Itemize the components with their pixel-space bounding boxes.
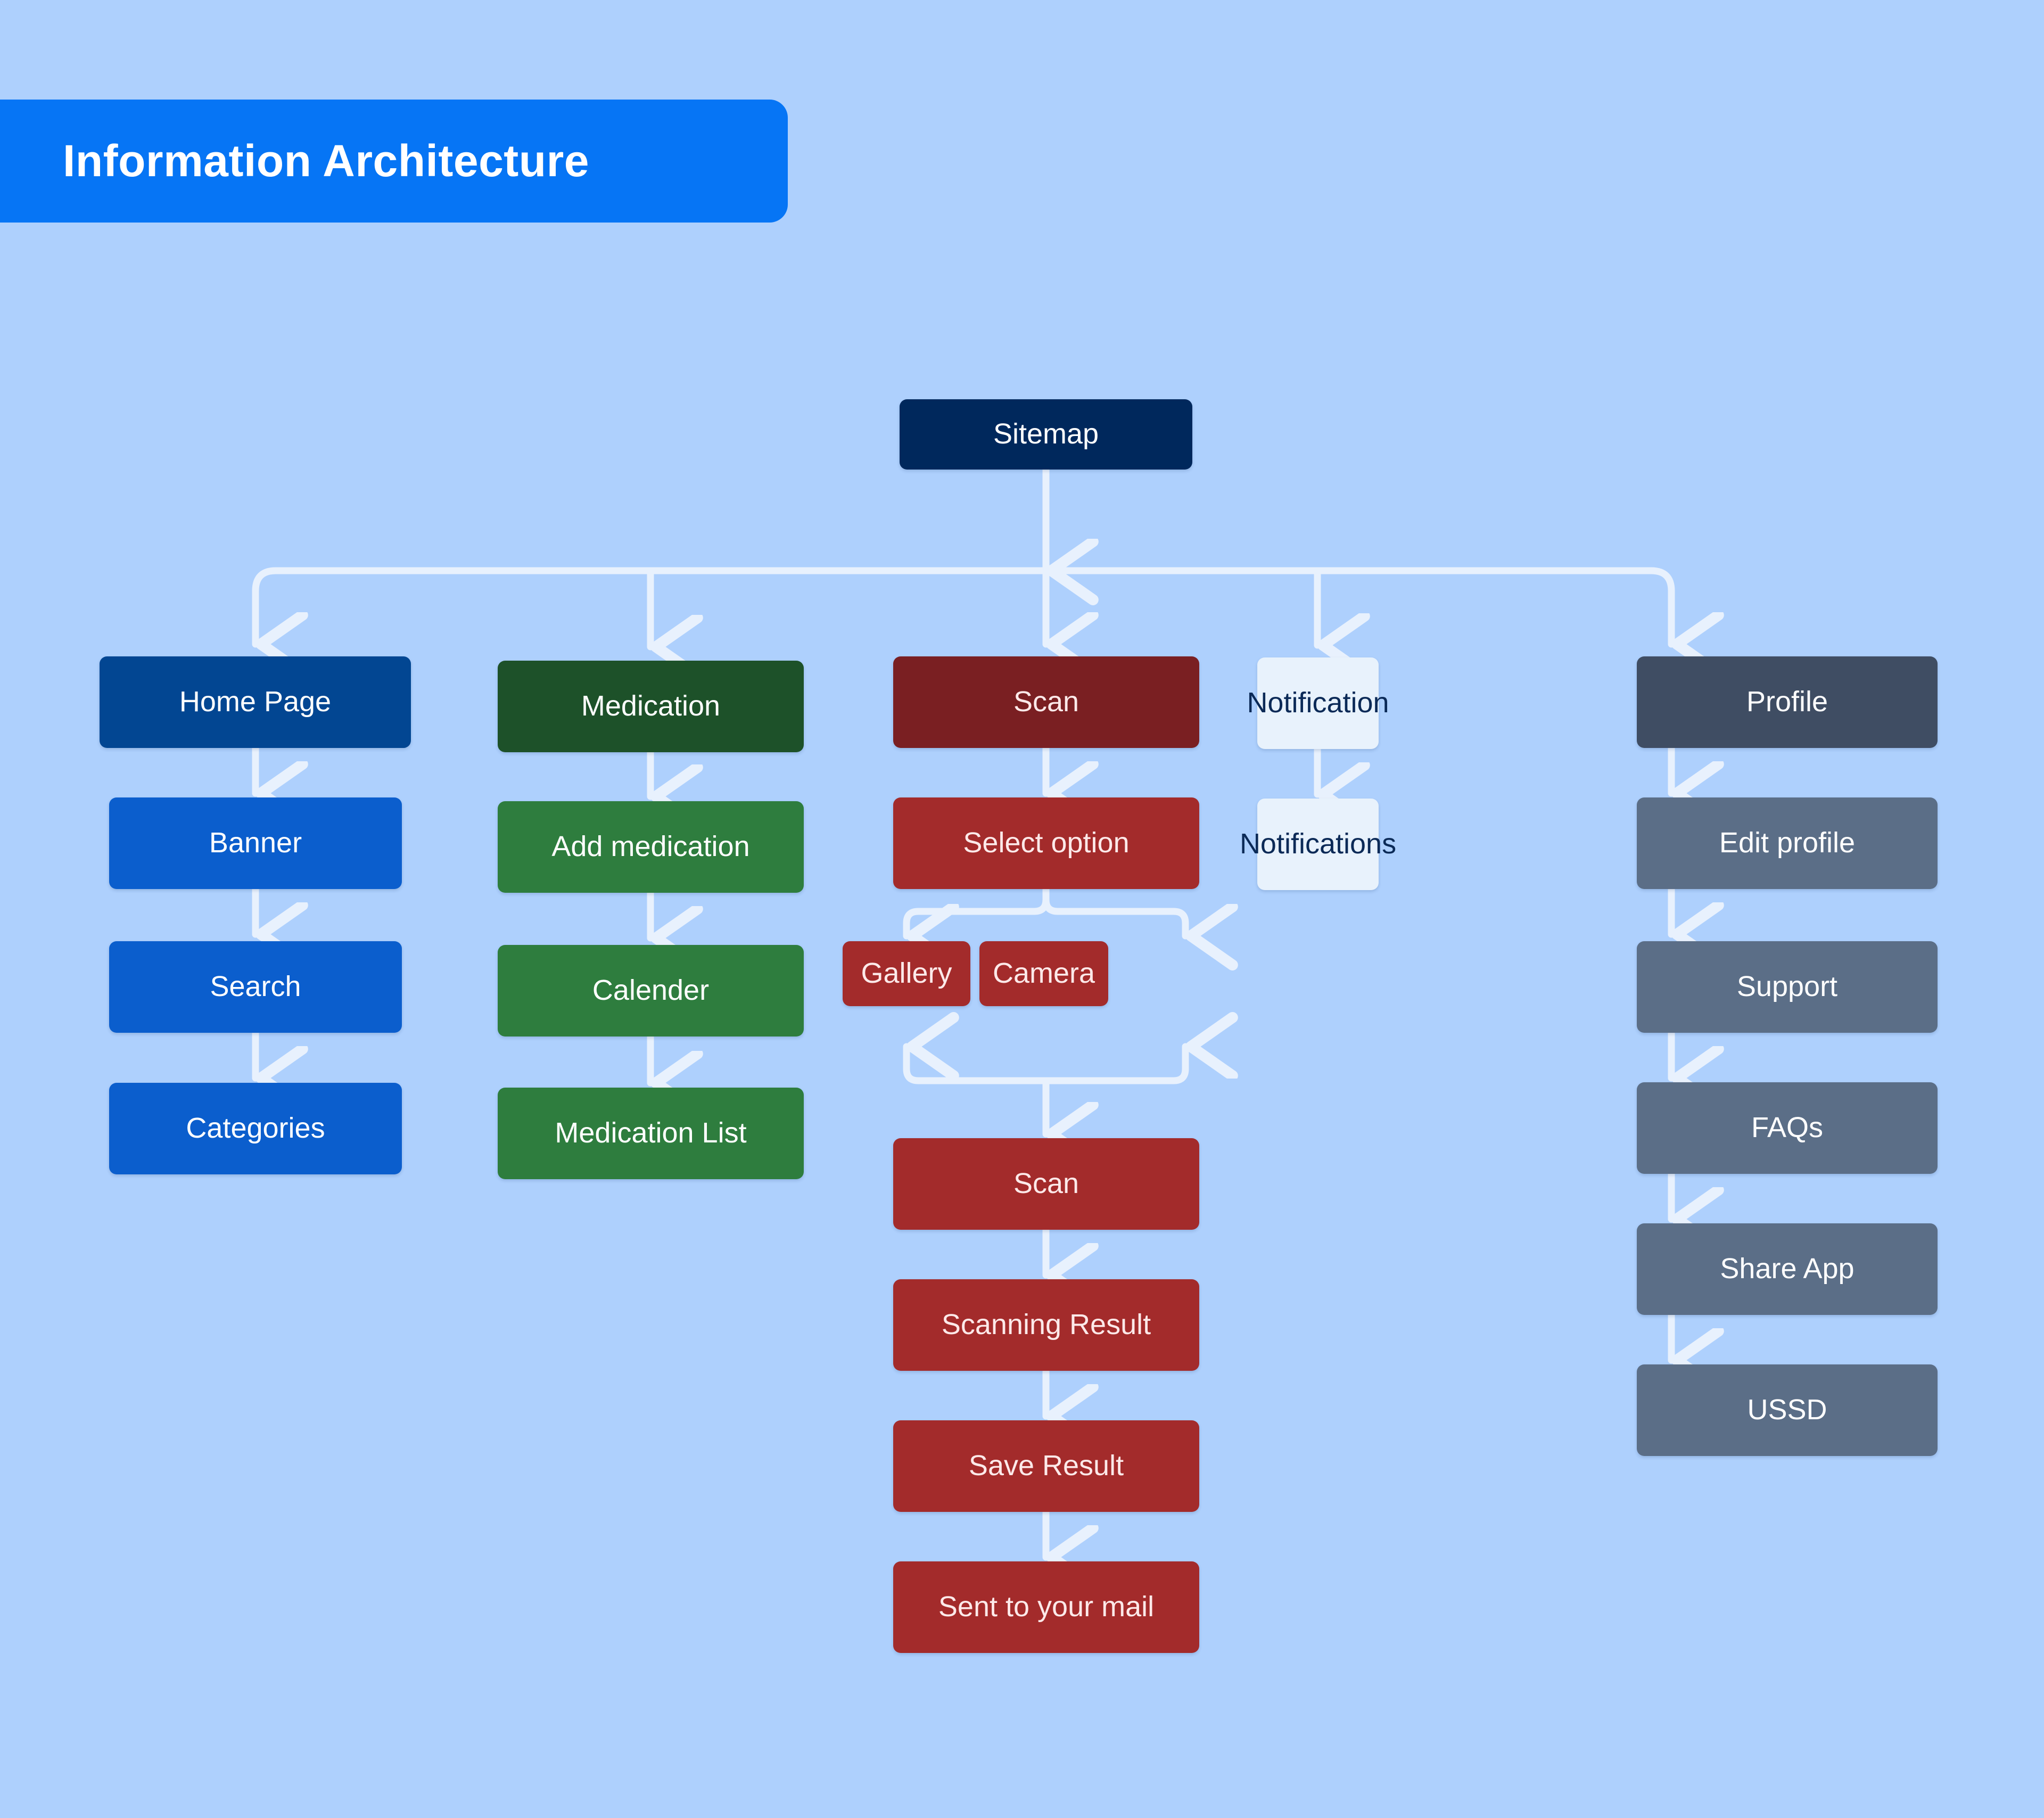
node-scanning-result[interactable]: Scanning Result <box>893 1279 1199 1371</box>
node-support[interactable]: Support <box>1637 941 1938 1033</box>
node-ussd[interactable]: USSD <box>1637 1364 1938 1456</box>
node-add-medication[interactable]: Add medication <box>498 801 804 893</box>
node-medication-list[interactable]: Medication List <box>498 1088 804 1179</box>
node-gallery[interactable]: Gallery <box>843 941 970 1006</box>
node-banner[interactable]: Banner <box>109 797 402 889</box>
diagram-canvas: Information Architecture Sitemap Home Pa… <box>0 0 2044 1818</box>
node-select-option[interactable]: Select option <box>893 797 1199 889</box>
node-sent-to-your-mail[interactable]: Sent to your mail <box>893 1561 1199 1653</box>
node-profile[interactable]: Profile <box>1637 656 1938 748</box>
page-title-banner: Information Architecture <box>0 100 788 223</box>
node-camera[interactable]: Camera <box>979 941 1108 1006</box>
node-sitemap[interactable]: Sitemap <box>900 399 1192 470</box>
node-scan-section[interactable]: Scan <box>893 656 1199 748</box>
node-share-app[interactable]: Share App <box>1637 1223 1938 1315</box>
node-home-page[interactable]: Home Page <box>100 656 411 748</box>
node-categories[interactable]: Categories <box>109 1083 402 1174</box>
node-save-result[interactable]: Save Result <box>893 1420 1199 1512</box>
node-scan-action[interactable]: Scan <box>893 1138 1199 1230</box>
node-search[interactable]: Search <box>109 941 402 1033</box>
node-notification[interactable]: Notification <box>1257 657 1379 749</box>
page-title: Information Architecture <box>63 135 589 187</box>
connector-wires <box>0 0 2044 1818</box>
node-medication[interactable]: Medication <box>498 661 804 752</box>
node-calender[interactable]: Calender <box>498 945 804 1036</box>
node-faqs[interactable]: FAQs <box>1637 1082 1938 1174</box>
node-notifications[interactable]: Notifications <box>1257 799 1379 890</box>
node-edit-profile[interactable]: Edit profile <box>1637 797 1938 889</box>
